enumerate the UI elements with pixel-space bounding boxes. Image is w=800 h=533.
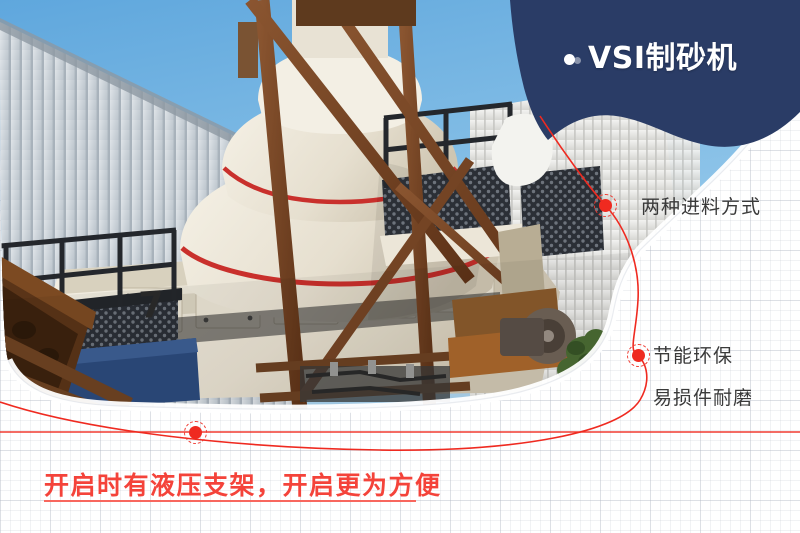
caption-underline — [44, 500, 416, 502]
poster-canvas: 7 VSI制砂机 两种进料方式 节能环保 易损件耐磨 开启时有液压支架，开启更为… — [0, 0, 800, 533]
red-node-icon-caption — [189, 426, 202, 439]
red-node-icon-feature-2 — [632, 349, 645, 362]
dot-dash-icon — [564, 54, 575, 65]
header-title-group: VSI制砂机 — [564, 44, 737, 74]
red-node-icon-feature-1 — [599, 199, 612, 212]
feature-label-3: 易损件耐磨 — [653, 383, 753, 413]
feature-label-2: 节能环保 — [653, 341, 733, 371]
connector-lines — [0, 0, 800, 533]
caption-text: 开启时有液压支架，开启更为方便 — [44, 466, 442, 502]
feature-label-1: 两种进料方式 — [641, 192, 761, 222]
page-title: VSI制砂机 — [588, 44, 737, 74]
